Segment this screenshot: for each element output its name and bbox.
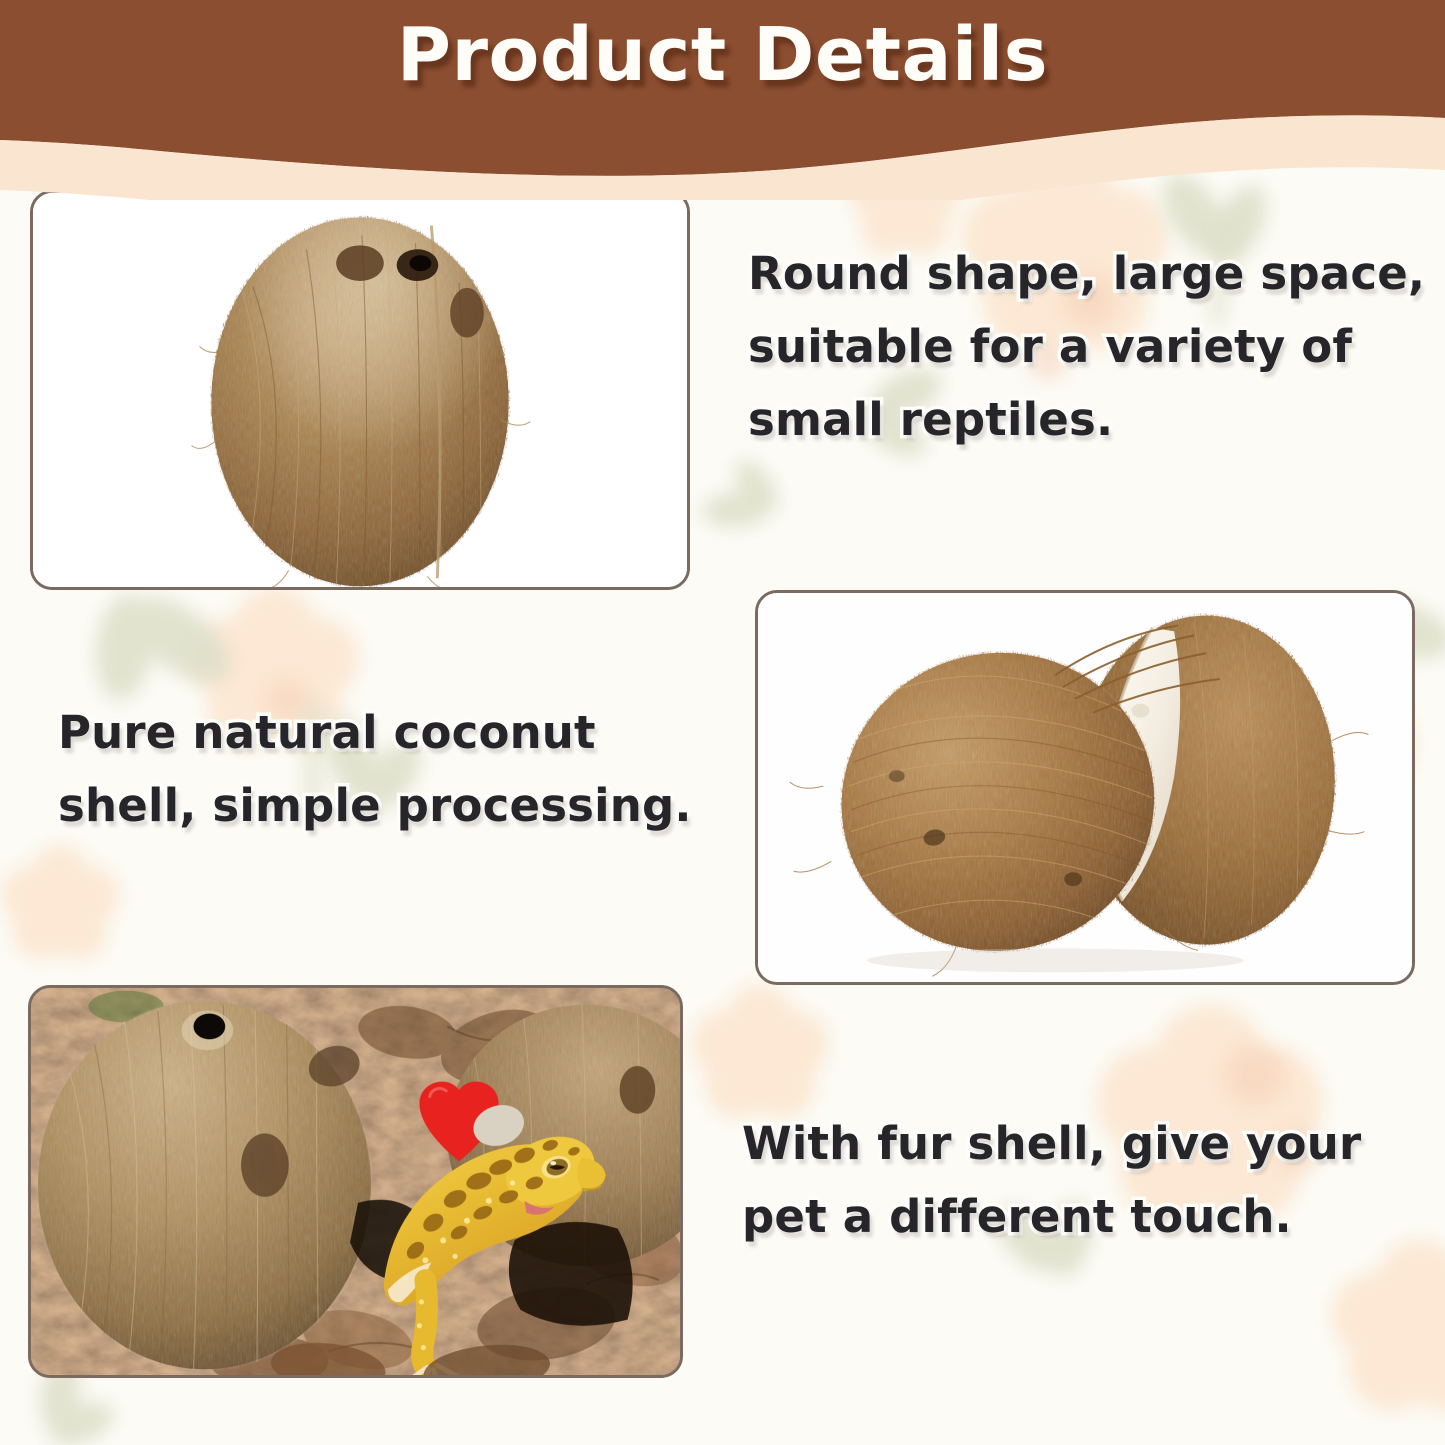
header-band: Product Details xyxy=(0,0,1445,200)
split-coconut-image xyxy=(758,593,1412,982)
whole-coconut-shell-hide-image xyxy=(33,193,687,587)
photo-card-leopard-gecko-with-coconut-hide xyxy=(28,985,683,1378)
leopard-gecko-with-coconut-hide-image xyxy=(31,988,680,1375)
product-details-poster: Product Details xyxy=(0,0,1445,1445)
photo-card-split-coconut xyxy=(755,590,1415,985)
caption-pure-natural: Pure natural coconut shell, simple proce… xyxy=(58,697,718,843)
caption-round-shape: Round shape, large space, suitable for a… xyxy=(748,238,1438,457)
page-title: Product Details xyxy=(0,12,1445,98)
caption-fur-shell: With fur shell, give your pet a differen… xyxy=(742,1108,1432,1254)
photo-card-whole-coconut-shell-hide xyxy=(30,190,690,590)
